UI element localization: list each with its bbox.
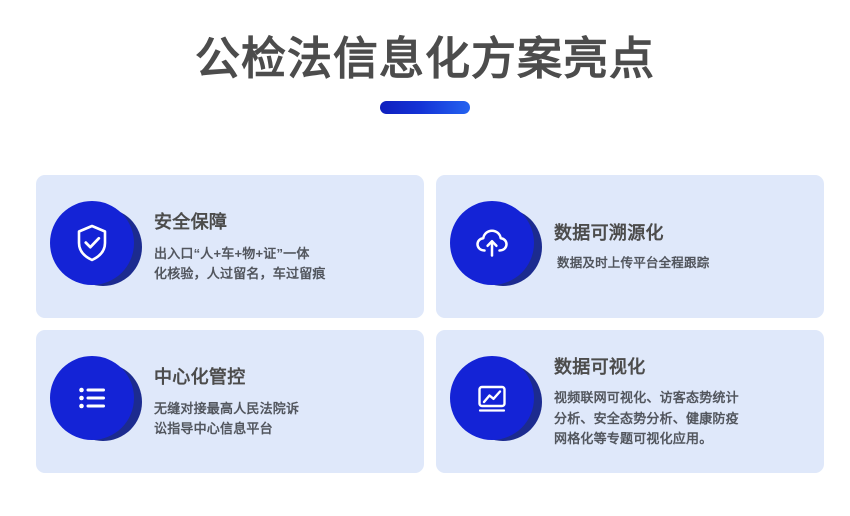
card-text: 数据可溯源化 数据及时上传平台全程跟踪 xyxy=(554,220,808,274)
card-description: 出入口“人+车+物+证”一体 化核验，人过留名，车过留痕 xyxy=(154,244,408,284)
icon-badge xyxy=(50,356,142,448)
icon-circle xyxy=(450,356,534,440)
cloud-upload-icon xyxy=(468,219,516,267)
page-root: 公检法信息化方案亮点 安全保障 出入口“人+车+物+证”一体 化核验，人过留名，… xyxy=(0,0,850,516)
page-title: 公检法信息化方案亮点 xyxy=(0,34,850,84)
icon-badge xyxy=(50,201,142,293)
icon-circle xyxy=(50,356,134,440)
feature-card-centralized-control[interactable]: 中心化管控 无缝对接最高人民法院诉 讼指导中心信息平台 xyxy=(36,330,424,473)
card-description: 无缝对接最高人民法院诉 讼指导中心信息平台 xyxy=(154,399,408,439)
title-underline-bar xyxy=(380,101,470,114)
feature-card-security[interactable]: 安全保障 出入口“人+车+物+证”一体 化核验，人过留名，车过留痕 xyxy=(36,175,424,318)
feature-card-data-traceability[interactable]: 数据可溯源化 数据及时上传平台全程跟踪 xyxy=(436,175,824,318)
shield-check-icon xyxy=(69,220,115,266)
page-header: 公检法信息化方案亮点 xyxy=(0,0,850,114)
icon-badge xyxy=(450,356,542,448)
card-description: 视频联网可视化、访客态势统计 分析、安全态势分析、健康防疫 网格化等专题可视化应… xyxy=(554,388,808,448)
card-text: 中心化管控 无缝对接最高人民法院诉 讼指导中心信息平台 xyxy=(154,364,408,439)
bullet-list-icon xyxy=(69,375,115,421)
icon-circle xyxy=(50,201,134,285)
card-text: 安全保障 出入口“人+车+物+证”一体 化核验，人过留名，车过留痕 xyxy=(154,209,408,284)
icon-badge xyxy=(450,201,542,293)
feature-card-grid: 安全保障 出入口“人+车+物+证”一体 化核验，人过留名，车过留痕 数据可溯源化… xyxy=(36,175,824,473)
card-title: 中心化管控 xyxy=(154,366,408,389)
icon-circle xyxy=(450,201,534,285)
card-text: 数据可视化 视频联网可视化、访客态势统计 分析、安全态势分析、健康防疫 网格化等… xyxy=(554,354,808,449)
card-title: 数据可溯源化 xyxy=(554,222,808,245)
card-title: 安全保障 xyxy=(154,211,408,234)
card-description: 数据及时上传平台全程跟踪 xyxy=(554,254,808,273)
card-title: 数据可视化 xyxy=(554,356,808,379)
chart-monitor-icon xyxy=(469,375,515,421)
feature-card-data-visualization[interactable]: 数据可视化 视频联网可视化、访客态势统计 分析、安全态势分析、健康防疫 网格化等… xyxy=(436,330,824,473)
